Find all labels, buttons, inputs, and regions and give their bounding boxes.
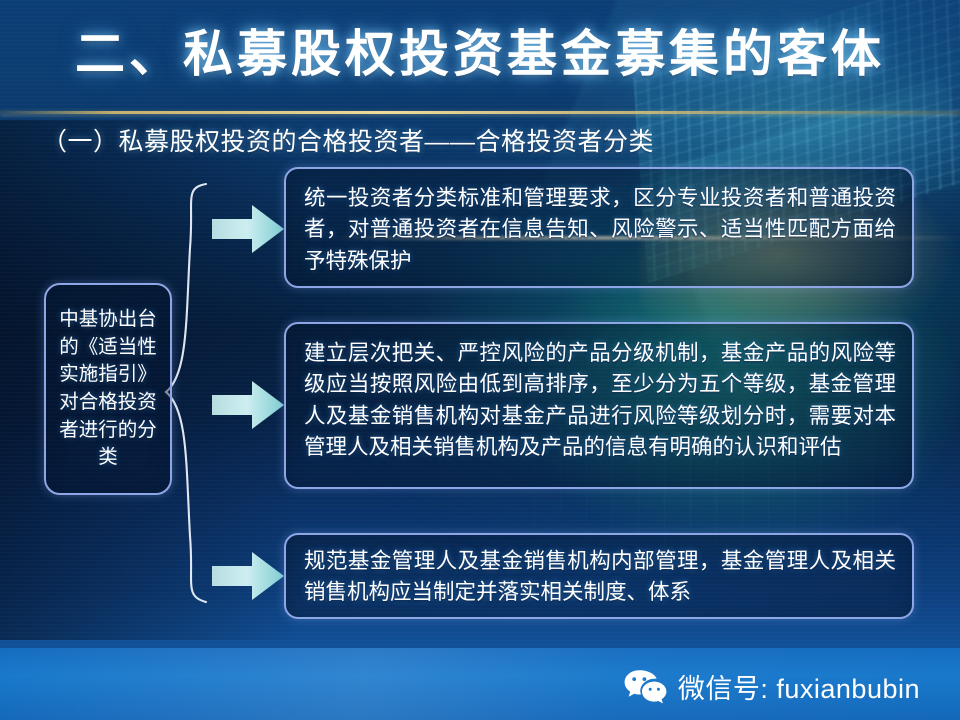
diagram-branch-node-1[interactable]: 统一投资者分类标准和管理要求，区分专业投资者和普通投资者，对普通投资者在信息告知… [284, 167, 914, 288]
diagram-branch-node-3[interactable]: 规范基金管理人及基金销售机构内部管理，基金管理人及相关销售机构应当制定并落实相关… [284, 533, 914, 619]
diagram-branch-text-2: 建立层次把关、严控风险的产品分级机制，基金产品的风险等级应当按照风险由低到高排序… [304, 338, 896, 464]
wechat-icon [623, 668, 667, 706]
arrow-right-icon-3 [210, 550, 286, 602]
arrow-right-icon-2 [210, 379, 286, 431]
title-divider [0, 111, 960, 114]
diagram-branch-text-1: 统一投资者分类标准和管理要求，区分专业投资者和普通投资者，对普通投资者在信息告知… [304, 183, 896, 277]
diagram-root-node[interactable]: 中基协出台的《适当性实施指引》对合格投资者进行的分类 [44, 283, 172, 495]
diagram-branch-node-2[interactable]: 建立层次把关、严控风险的产品分级机制，基金产品的风险等级应当按照风险由低到高排序… [284, 322, 914, 489]
page-title: 二、私募股权投资基金募集的客体 [0, 26, 960, 81]
watermark: 微信号: fuxianbubin [623, 667, 920, 706]
diagram-branch-text-3: 规范基金管理人及基金销售机构内部管理，基金管理人及相关销售机构应当制定并落实相关… [304, 546, 896, 609]
watermark-text: 微信号: fuxianbubin [678, 667, 920, 706]
arrow-right-icon-1 [210, 203, 286, 255]
diagram-root-label: 中基协出台的《适当性实施指引》对合格投资者进行的分类 [46, 306, 170, 472]
page-subtitle: （一）私募股权投资的合格投资者——合格投资者分类 [42, 122, 654, 158]
slide-canvas: 二、私募股权投资基金募集的客体 （一）私募股权投资的合格投资者——合格投资者分类 [0, 0, 960, 720]
